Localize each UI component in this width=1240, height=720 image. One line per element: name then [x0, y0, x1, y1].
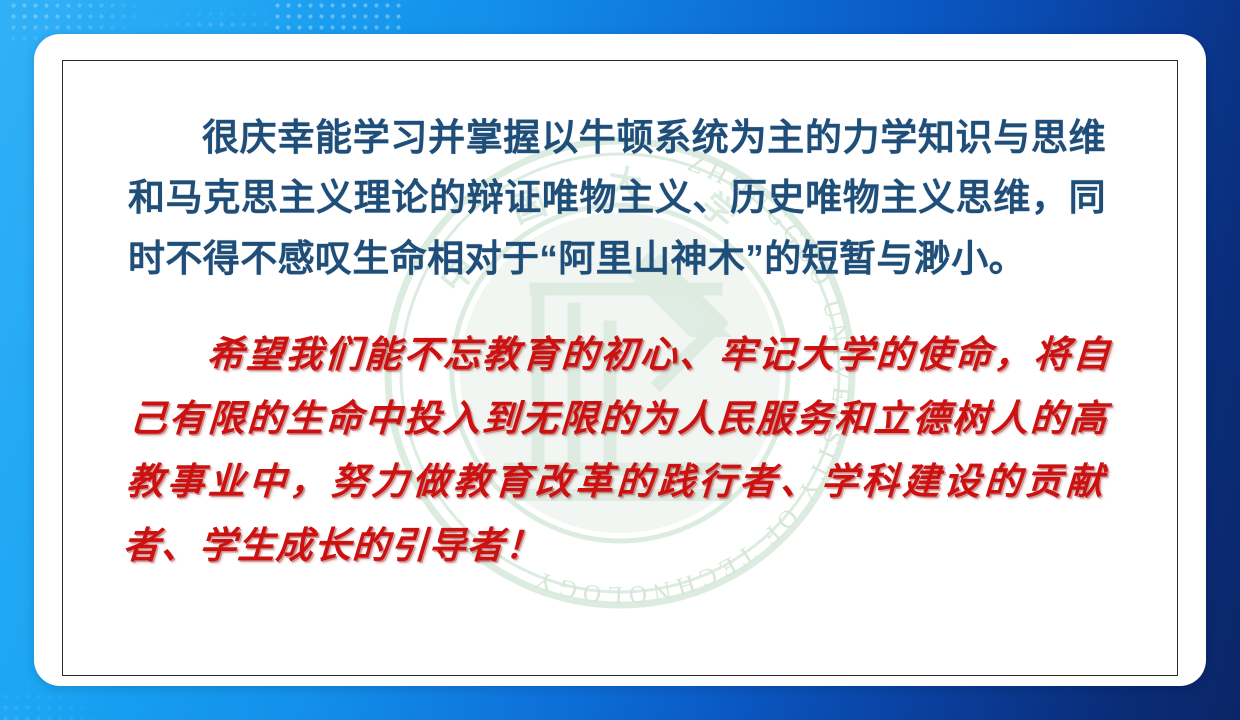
content-card: ZHONGGUO UNIVERSITY OF TECHNOLOGY 中国大学: [34, 34, 1206, 686]
dot-pattern-bottom-left: [0, 680, 110, 720]
paragraph-red-calligraphy: 希望我们能不忘教育的初心、牢记大学的使命，将自己有限的生命中投入到无限的为人民服…: [121, 323, 1112, 578]
slide-root: ZHONGGUO UNIVERSITY OF TECHNOLOGY 中国大学: [0, 0, 1240, 720]
slide-content: 很庆幸能学习并掌握以牛顿系统为主的力学知识与思维和马克思主义理论的辩证唯物主义、…: [34, 34, 1206, 686]
paragraph-blue: 很庆幸能学习并掌握以牛顿系统为主的力学知识与思维和马克思主义理论的辩证唯物主义、…: [128, 108, 1106, 289]
